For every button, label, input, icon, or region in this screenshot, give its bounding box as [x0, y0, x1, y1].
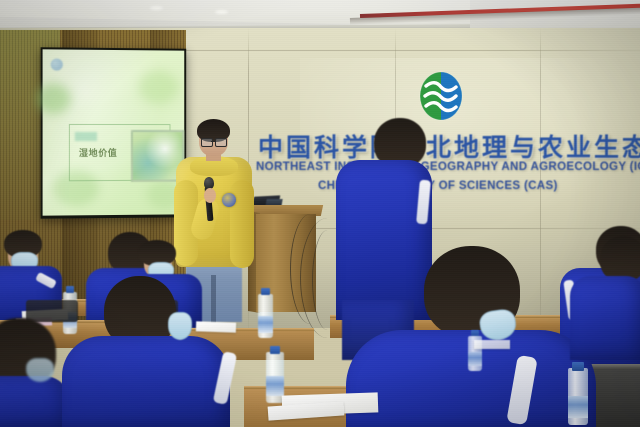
bottle-cap	[66, 286, 74, 293]
glasses-lens-left	[201, 138, 213, 147]
chair-left	[26, 300, 78, 322]
student-left-front-mask	[168, 312, 192, 340]
ceiling-light-1	[150, 6, 163, 10]
presenter-glasses	[201, 138, 226, 145]
water-bottle-podium	[258, 288, 273, 338]
slide-corner-logo	[51, 58, 63, 70]
hoodie-emblem	[222, 193, 236, 207]
bottle-cap	[270, 346, 280, 354]
water-bottle-right	[468, 330, 482, 370]
glasses-bridge	[211, 141, 215, 142]
student-bottom-left-body	[0, 376, 70, 427]
student-left-front-body	[62, 336, 230, 427]
bottle-label	[568, 396, 588, 418]
bottle-label	[266, 376, 284, 396]
presenter-arm-right	[230, 180, 254, 268]
slide-tag-highlight	[75, 132, 97, 141]
bottle-label	[258, 316, 273, 333]
bottle-cap	[261, 288, 269, 295]
slide-blob-2	[139, 70, 178, 104]
wall-sign-english-line1: NORTHEAST INSTITUTE OF GEOGRAPHY AND AGR…	[256, 161, 640, 173]
student-bottom-left-mask	[26, 358, 54, 382]
bottle-label	[468, 352, 482, 366]
institute-globe-logo	[418, 70, 464, 122]
projection-screen: 湿地价值	[41, 47, 187, 218]
slide-blob-1	[36, 84, 70, 114]
bottle-cap	[471, 330, 479, 336]
slide-title-text: 湿地价值	[79, 146, 117, 159]
lecture-hall-photo: 中国科学院东北地理与农业生态研究所 NORTHEAST INSTITUTE OF…	[0, 0, 640, 427]
wall-sign-chinese: 中国科学院东北地理与农业生态研究所	[258, 128, 640, 164]
water-bottle-bottom	[568, 362, 588, 426]
presenter-leg-gap	[211, 275, 216, 323]
bottle-cap	[572, 362, 583, 371]
presenter-hand	[204, 188, 216, 203]
glasses-lens-right	[215, 138, 227, 147]
wall-seam-v3	[540, 28, 541, 328]
ceiling-light-2	[215, 10, 228, 14]
papers-center	[196, 321, 236, 332]
student-standing-body	[336, 160, 432, 320]
slide-surface: 湿地价值	[43, 49, 185, 215]
student-right-masked-body	[570, 276, 640, 360]
papers-desk-right	[474, 340, 510, 349]
